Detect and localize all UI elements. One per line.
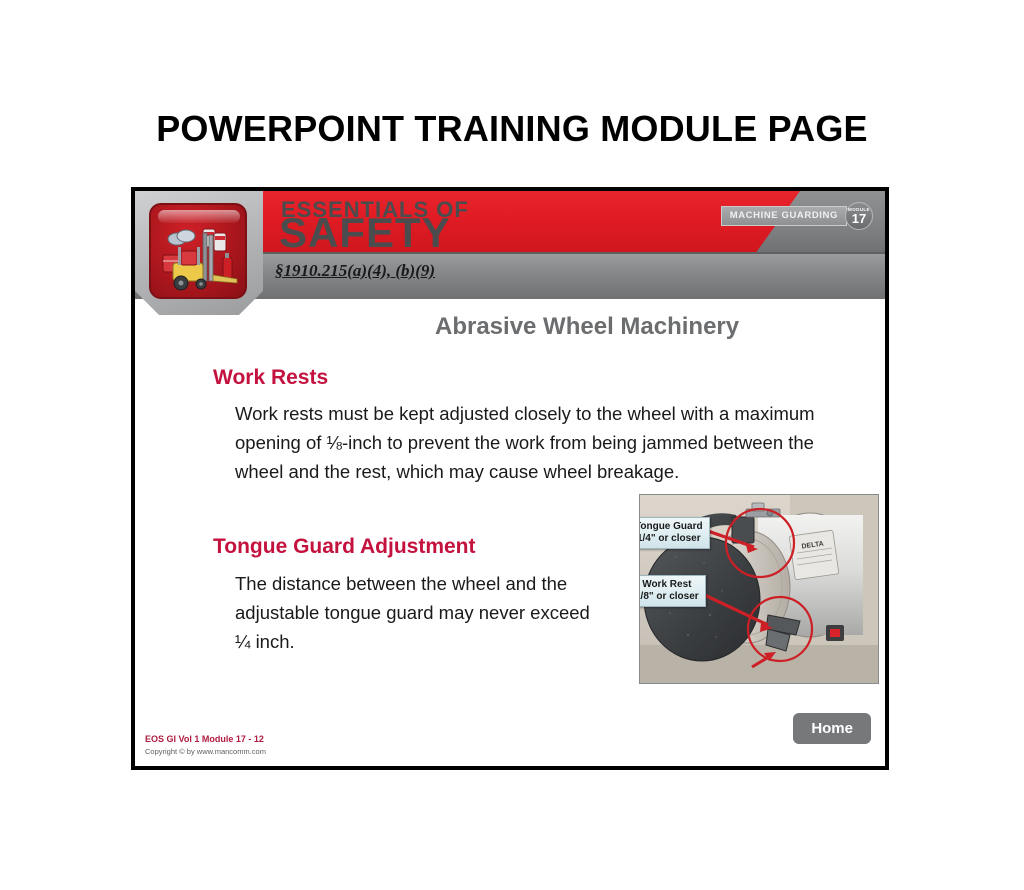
section-heading-tongue-guard: Tongue Guard Adjustment (213, 535, 476, 559)
home-button[interactable]: Home (793, 713, 871, 744)
footer-module-reference: EOS GI Vol 1 Module 17 - 12 (145, 734, 264, 744)
callout-work-rest-line2: 1/8" or closer (639, 591, 699, 603)
regulation-citation: §1910.215(a)(4), (b)(9) (275, 261, 435, 281)
page-heading: Abrasive Wheel Machinery (435, 313, 739, 341)
module-label: MACHINE GUARDING (721, 206, 847, 226)
callout-tongue-guard: Tongue Guard 1/4" or closer (639, 517, 710, 549)
section-heading-work-rests: Work Rests (213, 366, 328, 390)
callout-work-rest-line1: Work Rest (639, 579, 699, 591)
slide-frame: ESSENTIALS OF SAFETY §1910.215(a)(4), (b… (131, 187, 889, 770)
callout-tongue-guard-line1: Tongue Guard (639, 521, 703, 533)
forklift-icon (151, 205, 247, 299)
callout-tongue-guard-line2: 1/4" or closer (639, 533, 703, 545)
forklift-safety-equipment-logo (149, 203, 247, 299)
module-badge: MACHINE GUARDING MODULE 17 (721, 203, 873, 229)
module-number: 17 (852, 212, 866, 225)
footer-copyright: Copyright © by www.mancomm.com (145, 747, 266, 756)
brand-title: SAFETY (279, 212, 451, 254)
section-body-tongue-guard: The distance between the wheel and the a… (235, 569, 595, 656)
section-body-work-rests: Work rests must be kept adjusted closely… (235, 399, 835, 486)
logo-panel (135, 191, 264, 315)
module-number-circle: MODULE 17 (845, 202, 873, 230)
bench-grinder-photo: DELTA (639, 494, 879, 684)
callout-work-rest: Work Rest 1/8" or closer (639, 575, 706, 607)
page-title: POWERPOINT TRAINING MODULE PAGE (0, 108, 1024, 150)
